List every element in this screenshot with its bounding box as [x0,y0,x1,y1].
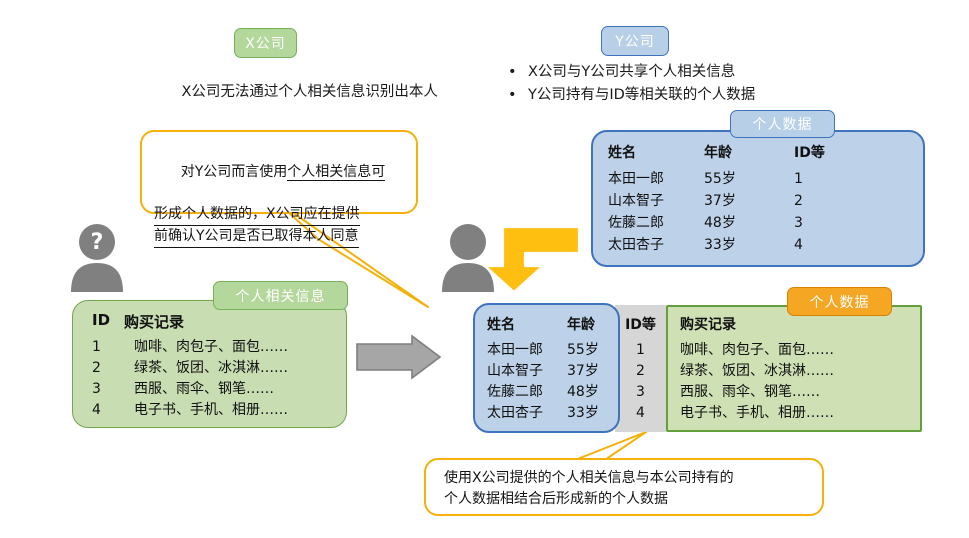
table-header-row: ID 购买记录 [92,311,288,332]
cell-name: 太田杏子 [487,403,567,424]
column-header-purchase: 购买记录 [680,314,834,334]
list-item: • X公司与Y公司共享个人相关信息 [508,61,755,84]
bullet-text: Y公司持有与ID等相关联的个人数据 [528,84,755,107]
callout-top: 对Y公司而言使用个人相关信息可 形成个人数据的，X公司应在提供 前确认Y公司是否… [140,130,418,214]
cell-age: 55岁 [567,340,599,361]
column-header-id: ID等 [615,314,666,334]
right-bullets: • X公司与Y公司共享个人相关信息 • Y公司持有与ID等相关联的个人数据 [508,61,755,107]
cell-name: 佐藤二郎 [608,212,704,234]
cell-name: 本田一郎 [608,168,704,190]
table-merged-id: ID等 1 2 3 4 [615,314,666,424]
column-header-age: 年龄 [704,142,794,162]
column-header-name: 姓名 [608,142,704,162]
cell-name: 佐藤二郎 [487,382,567,403]
callout-bottom-line1: 使用X公司提供的个人相关信息与本公司持有的 [444,468,808,489]
cell-age: 33岁 [704,234,794,256]
table-row: 1 咖啡、肉包子、面包…… [92,337,288,358]
badge-personal-data-bottom-label: 个人数据 [810,292,870,312]
cell-id: 1 [794,168,864,190]
callout-bottom: 使用X公司提供的个人相关信息与本公司持有的 个人数据相结合后形成新的个人数据 [424,458,824,516]
callout-bottom-line2: 个人数据相结合后形成新的个人数据 [444,489,808,510]
cell-purchase: 咖啡、肉包子、面包…… [134,337,288,358]
table-header-row: 姓名 年龄 ID等 [608,142,864,162]
badge-personal-related-info-label: 个人相关信息 [236,286,326,306]
column-header-purchase: 购买记录 [124,311,184,332]
badge-personal-data-top-label: 个人数据 [753,114,813,134]
cell-id: 4 [615,403,666,424]
cell-id: 3 [615,382,666,403]
cell-id: 3 [794,212,864,234]
person-icon [437,222,499,292]
arrow-elbow-down-icon [485,227,579,292]
table-green-left: ID 购买记录 1 咖啡、肉包子、面包…… 2 绿茶、饭团、冰淇淋…… 3 西服… [92,311,288,421]
table-row: 山本智子 37岁 [487,361,599,382]
cell-id: 2 [615,361,666,382]
table-merged-blue: 姓名 年龄 本田一郎 55岁 山本智子 37岁 佐藤二郎 48岁 太田杏子 33… [487,314,599,424]
cell-purchase: 电子书、手机、相册…… [680,403,834,424]
column-header-id: ID等 [794,142,864,162]
cell-age: 37岁 [704,190,794,212]
table-row: 3 西服、雨伞、钢笔…… [92,379,288,400]
column-header-id: ID [92,311,124,332]
cell-name: 太田杏子 [608,234,704,256]
table-row: 山本智子 37岁 2 [608,190,864,212]
bullet-dot-icon: • [508,84,516,107]
cell-id: 1 [615,340,666,361]
column-header-age: 年龄 [567,314,595,334]
badge-personal-related-info[interactable]: 个人相关信息 [213,281,348,310]
left-note: X公司无法通过个人相关信息识别出本人 [163,62,563,122]
table-header-row: 姓名 年龄 [487,314,599,334]
cell-purchase: 西服、雨伞、钢笔…… [680,382,834,403]
table-row: 佐藤二郎 48岁 [487,382,599,403]
cell-purchase: 咖啡、肉包子、面包…… [680,340,834,361]
table-row: 2 绿茶、饭团、冰淇淋…… [92,358,288,379]
badge-x-company[interactable]: X公司 [234,28,297,58]
table-row: 太田杏子 33岁 [487,403,599,424]
badge-personal-data-top[interactable]: 个人数据 [730,110,835,138]
table-row: 4 电子书、手机、相册…… [92,400,288,421]
cell-id: 1 [92,337,134,358]
callout-top-line3: 前确认Y公司是否已取得本人同意 [154,226,359,248]
table-row: 太田杏子 33岁 4 [608,234,864,256]
badge-y-company[interactable]: Y公司 [601,26,669,56]
cell-name: 山本智子 [487,361,567,382]
bullet-dot-icon: • [508,61,516,84]
table-row: 本田一郎 55岁 1 [608,168,864,190]
badge-y-company-label: Y公司 [615,31,655,51]
table-row: 本田一郎 55岁 [487,340,599,361]
person-question-icon: ? [66,222,128,292]
callout-top-line1-underlined: 个人相关信息可 [287,164,385,181]
cell-id: 2 [92,358,134,379]
cell-id: 2 [794,190,864,212]
table-merged-purchase: 购买记录 咖啡、肉包子、面包…… 绿茶、饭团、冰淇淋…… 西服、雨伞、钢笔…… … [680,314,834,424]
left-note-text: X公司无法通过个人相关信息识别出本人 [181,84,437,100]
cell-name: 本田一郎 [487,340,567,361]
cell-id: 4 [92,400,134,421]
callout-top-line1: 对Y公司而言使用个人相关信息可 [154,141,404,204]
svg-text:?: ? [91,230,104,255]
column-header-name: 姓名 [487,314,567,334]
cell-age: 55岁 [704,168,794,190]
cell-age: 37岁 [567,361,599,382]
badge-personal-data-bottom[interactable]: 个人数据 [787,287,892,316]
cell-age: 48岁 [567,382,599,403]
cell-id: 3 [92,379,134,400]
table-blue-top: 姓名 年龄 ID等 本田一郎 55岁 1 山本智子 37岁 2 佐藤二郎 48岁… [608,142,864,256]
cell-id: 4 [794,234,864,256]
table-row: 佐藤二郎 48岁 3 [608,212,864,234]
cell-purchase: 西服、雨伞、钢笔…… [134,379,274,400]
bullet-text: X公司与Y公司共享个人相关信息 [528,61,735,84]
diagram-canvas: X公司 X公司无法通过个人相关信息识别出本人 Y公司 • X公司与Y公司共享个人… [0,0,969,538]
cell-purchase: 绿茶、饭团、冰淇淋…… [680,361,834,382]
cell-purchase: 电子书、手机、相册…… [134,400,288,421]
cell-age: 33岁 [567,403,599,424]
list-item: • Y公司持有与ID等相关联的个人数据 [508,84,755,107]
cell-purchase: 绿茶、饭团、冰淇淋…… [134,358,288,379]
cell-name: 山本智子 [608,190,704,212]
cell-age: 48岁 [704,212,794,234]
badge-x-company-label: X公司 [245,33,286,53]
callout-top-line2: 形成个人数据的，X公司应在提供 [154,204,360,226]
callout-top-line1-plain: 对Y公司而言使用 [181,164,288,180]
arrow-right-icon [357,336,440,378]
